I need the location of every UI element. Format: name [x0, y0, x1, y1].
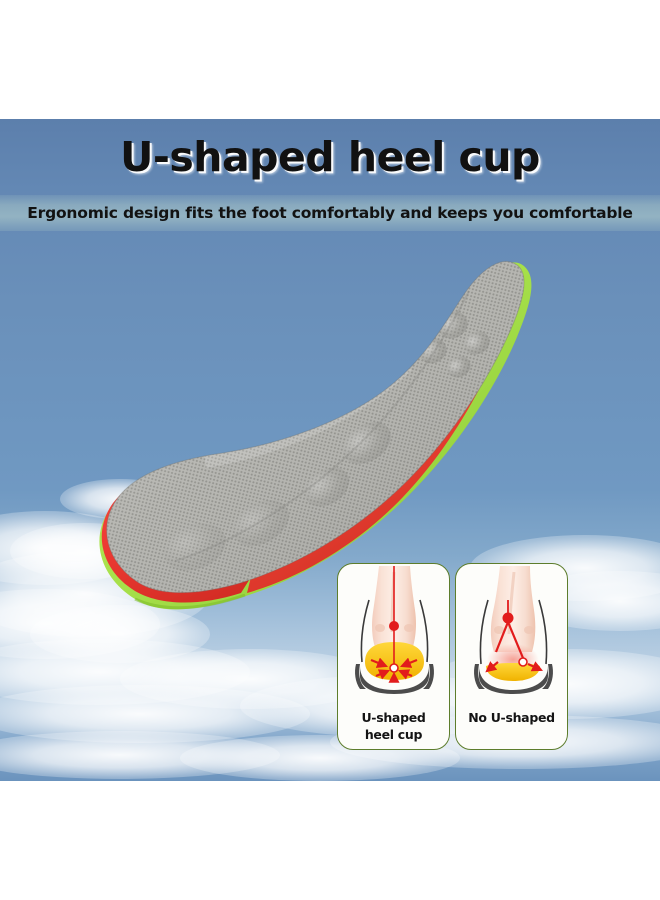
caption-line-1: No U-shaped [456, 709, 567, 726]
u-shaped-heel-diagram [338, 566, 449, 694]
comparison-panel-no-u-shaped: No U-shaped [455, 563, 568, 750]
title-container: U-shaped heel cup [0, 119, 660, 195]
pressure-center [390, 664, 398, 672]
caption-line-2: heel cup [338, 726, 449, 743]
shoe-outline [539, 600, 547, 664]
panel-caption-no-u-shaped: No U-shaped [456, 709, 567, 726]
page-subtitle: Ergonomic design fits the foot comfortab… [27, 204, 633, 222]
subtitle-band: Ergonomic design fits the foot comfortab… [0, 195, 660, 231]
comparison-panel-u-shaped: U-shaped heel cup [337, 563, 450, 750]
page-title: U-shaped heel cup [120, 133, 540, 181]
caption-line-1: U-shaped [338, 709, 449, 726]
alignment-dot [389, 621, 399, 631]
product-banner: U-shaped heel cup [0, 119, 660, 781]
no-u-shaped-heel-diagram [456, 566, 567, 694]
panel-caption-u-shaped: U-shaped heel cup [338, 709, 449, 743]
pressure-center [519, 658, 527, 666]
shoe-outline [480, 600, 488, 664]
product-image-page: U-shaped heel cup [0, 0, 660, 900]
